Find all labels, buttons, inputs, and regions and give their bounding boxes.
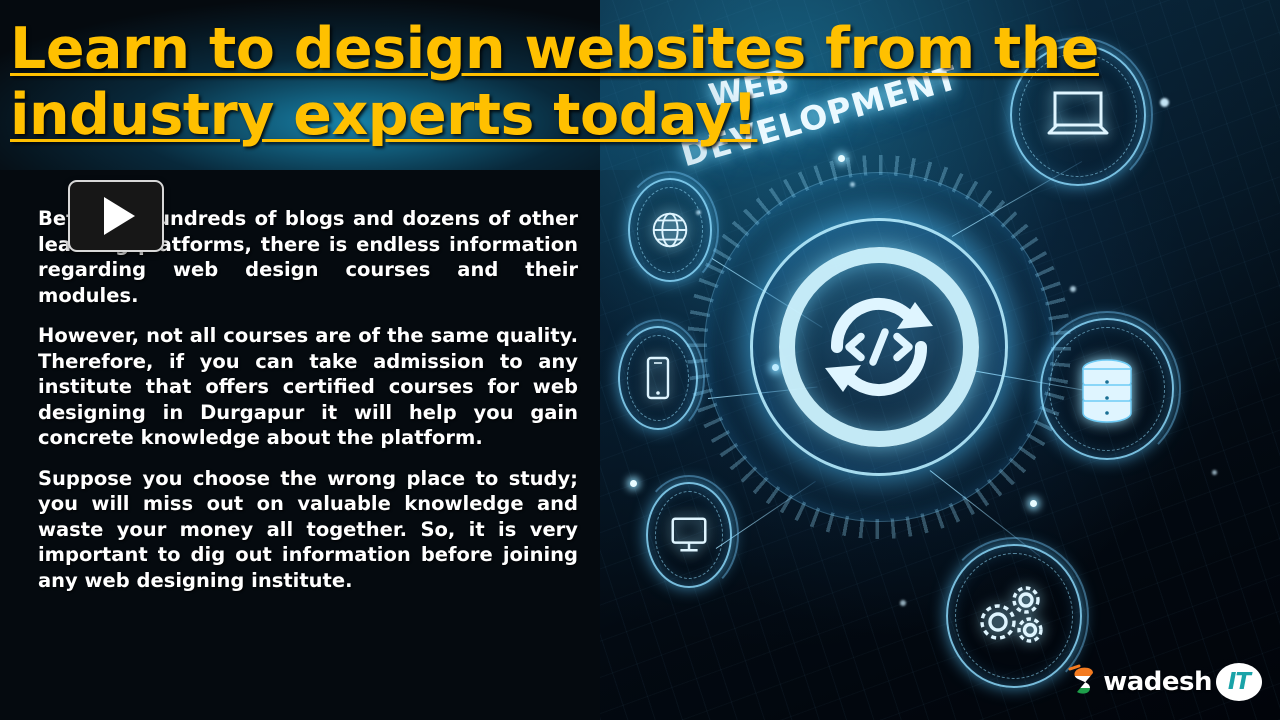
presentation-slide: WEB DEVELOPMENT [0, 0, 1280, 720]
node-gears [946, 544, 1082, 688]
hub-inner-ring [779, 247, 979, 447]
hub-code-refresh [750, 218, 1008, 476]
brand-logo: wadesh IT [1068, 660, 1262, 704]
light-speck [1212, 470, 1217, 475]
node-globe [628, 178, 712, 282]
monitor-icon [666, 513, 712, 557]
logo-it-text: IT [1228, 669, 1250, 695]
paragraph-3: Suppose you choose the wrong place to st… [38, 466, 578, 594]
database-icon [1074, 355, 1140, 423]
play-icon [104, 197, 135, 235]
page-title: Learn to design websites from the indust… [10, 16, 1278, 148]
paragraph-2: However, not all courses are of the same… [38, 323, 578, 451]
node-smartphone [618, 326, 698, 430]
light-speck [1070, 286, 1076, 292]
light-speck [900, 600, 906, 606]
logo-it-badge: IT [1216, 663, 1262, 701]
flag-stroke [1070, 666, 1079, 669]
gears-icon [972, 578, 1056, 654]
node-monitor [646, 482, 732, 588]
logo-wordmark: wadesh [1103, 667, 1212, 697]
smartphone-icon [643, 354, 673, 402]
connector-node [630, 480, 637, 487]
body-text-column: Between hundreds of blogs and dozens of … [38, 206, 578, 593]
play-button[interactable] [68, 180, 164, 252]
connector-node [1030, 500, 1037, 507]
swadesh-s-icon [1068, 664, 1102, 700]
globe-icon [647, 207, 693, 253]
logo-s-mark [1068, 664, 1102, 700]
node-database [1040, 318, 1174, 460]
